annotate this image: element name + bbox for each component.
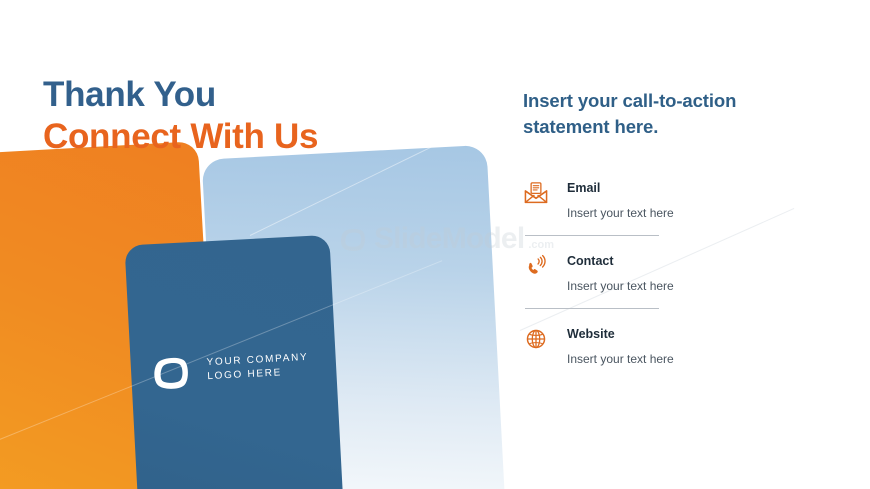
contact-text-email: Email Insert your text here [567, 179, 674, 220]
contact-row-email[interactable]: Email Insert your text here [523, 179, 843, 220]
contact-label-website: Website [567, 327, 615, 341]
contact-row-phone[interactable]: Contact Insert your text here [523, 252, 843, 293]
right-content-column: Insert your call-to-action statement her… [523, 88, 843, 399]
contact-list: Email Insert your text here Contact [523, 179, 843, 383]
contact-value-email[interactable]: Insert your text here [567, 206, 674, 220]
globe-website-icon [523, 326, 549, 352]
phone-ringing-icon [523, 253, 549, 279]
contact-value-website[interactable]: Insert your text here [567, 352, 674, 366]
contact-text-website: Website Insert your text here [567, 325, 674, 366]
email-envelope-icon [523, 180, 549, 206]
contact-row-divider [525, 308, 659, 309]
company-logo-group: YOUR COMPANY LOGO HERE [149, 344, 310, 394]
slide-title-block: Thank You Connect With Us [43, 76, 318, 156]
slide-canvas: SlideModel .com YOUR COMPANY LOGO HERE T… [0, 0, 870, 489]
company-logo-caption: YOUR COMPANY LOGO HERE [206, 350, 309, 384]
slide-title-secondary: Connect With Us [43, 118, 318, 156]
company-logo-icon [149, 350, 193, 394]
company-logo-caption-line-2: LOGO HERE [207, 367, 282, 382]
contact-text-phone: Contact Insert your text here [567, 252, 674, 293]
contact-value-phone[interactable]: Insert your text here [567, 279, 674, 293]
contact-label-phone: Contact [567, 254, 614, 268]
call-to-action-heading: Insert your call-to-action statement her… [523, 88, 843, 141]
company-logo-caption-line-1: YOUR COMPANY [206, 351, 308, 367]
slide-title-primary: Thank You [43, 76, 318, 114]
contact-row-divider [525, 235, 659, 236]
contact-label-email: Email [567, 181, 600, 195]
contact-row-website[interactable]: Website Insert your text here [523, 325, 843, 366]
